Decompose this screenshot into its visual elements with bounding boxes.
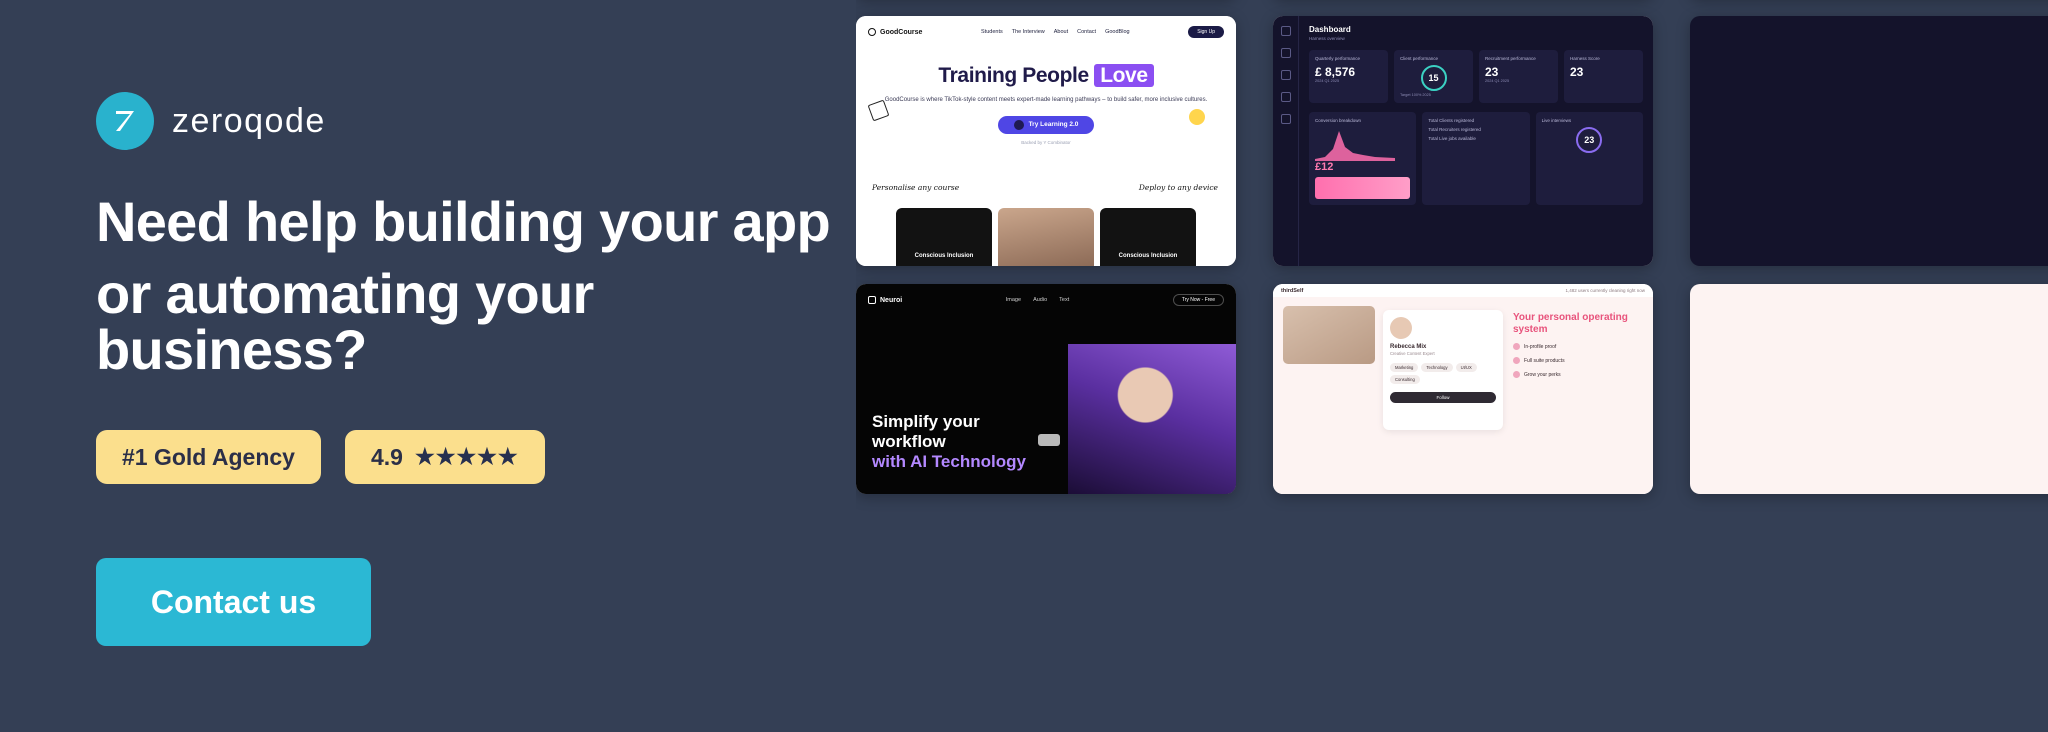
headline-line-1: Need help building your app: [96, 190, 830, 253]
badge-gold-agency: #1 Gold Agency: [96, 430, 321, 484]
gauge-icon: 23: [1576, 127, 1602, 153]
kpi-card: Recruitment performance 23 2024 Q1 2025: [1479, 50, 1558, 103]
headline-line-2: or automating your business?: [96, 266, 856, 378]
goodcourse-annotation-right: Deploy to any device: [1139, 183, 1218, 192]
neuroi-heading: Simplify your workflow with AI Technolog…: [872, 412, 1026, 472]
tag: UI/UX: [1456, 363, 1477, 372]
neuroi-nav-audio[interactable]: Audio: [1033, 297, 1047, 303]
kpi-card: Quarterly performance £ 8,576 2024 Q1 20…: [1309, 50, 1388, 103]
dashboard-kpi-row-1: Quarterly performance £ 8,576 2024 Q1 20…: [1309, 50, 1643, 103]
page-title: Need help building your app or automatin…: [96, 194, 856, 378]
badge-gold-agency-label: #1 Gold Agency: [122, 444, 295, 471]
neuroi-nav-image[interactable]: Image: [1006, 297, 1021, 303]
goodcourse-nav-links: Students The Interview About Contact Goo…: [981, 29, 1130, 35]
dashboard-kpi-row-2: Conversion breakdown £12 Total Clients r…: [1309, 112, 1643, 205]
showcase-column-2: Bekannt aus: ARD WELT Frankfurter Allgem…: [1273, 0, 1653, 512]
portfolio-card-dashboard[interactable]: Dashboard Harness overview Quarterly per…: [1273, 16, 1653, 266]
chart-icon[interactable]: [1281, 92, 1291, 102]
brand-wordmark: zeroqode: [172, 102, 326, 141]
list-item: In-profile proof: [1513, 343, 1643, 350]
bullet-icon: [1513, 371, 1520, 378]
neuroi-ui-panel: [1038, 434, 1060, 446]
portfolio-card-extra-3[interactable]: [1690, 284, 2048, 494]
neuroi-nav-links: Image Audio Text: [1006, 297, 1069, 303]
thirdself-heading: Your personal operating system: [1513, 312, 1643, 336]
profile-name: Rebecca Mix: [1390, 344, 1496, 350]
goodcourse-subtext: GoodCourse is where TikTok-style content…: [868, 96, 1224, 106]
phone-mockup-right: Conscious Inclusion: [1100, 208, 1196, 266]
bullet-icon: [1513, 357, 1520, 364]
nav-interview[interactable]: The Interview: [1012, 29, 1045, 35]
neuroi-heading-3: with AI Technology: [872, 452, 1026, 471]
nav-goodblog[interactable]: GoodBlog: [1105, 29, 1129, 35]
portfolio-card-neuroi[interactable]: Neuroi Image Audio Text Try Now - Free S…: [856, 284, 1236, 494]
grid-icon[interactable]: [1281, 48, 1291, 58]
portfolio-card-thirdself[interactable]: thirdSelf 1,482 users currently cleaning…: [1273, 284, 1653, 494]
dashboard-subtitle: Harness overview: [1309, 36, 1643, 41]
hero-section: zeroqode Need help building your app or …: [0, 0, 856, 732]
thirdself-brand: thirdSelf: [1281, 288, 1303, 294]
goodcourse-heading-highlight: Love: [1094, 64, 1153, 87]
avatar: [1390, 317, 1412, 339]
tag: Technology: [1421, 363, 1452, 372]
goodcourse-heading: Training People Love: [868, 64, 1224, 88]
showcase-column-3: [1690, 0, 2048, 512]
kpi-card: Harness Score 23: [1564, 50, 1643, 103]
goodcourse-phone-mockups: Conscious Inclusion Conscious Inclusion: [896, 208, 1196, 266]
list-item: Grow your perks: [1513, 371, 1643, 378]
badge-rating-value: 4.9: [371, 444, 403, 471]
users-icon[interactable]: [1281, 70, 1291, 80]
showcase-column-1: $0.47 $0.34 $0.28: [856, 0, 1236, 512]
goodcourse-navbar: GoodCourse Students The Interview About …: [868, 26, 1224, 38]
phone-mockup-left: Conscious Inclusion: [896, 208, 992, 266]
neuroi-mark-icon: [868, 296, 876, 304]
thirdself-photo: [1283, 306, 1375, 364]
dashboard-title: Dashboard: [1309, 25, 1643, 34]
badge-group: #1 Gold Agency 4.9 ★★★★★: [96, 430, 856, 484]
badge-rating: 4.9 ★★★★★: [345, 430, 545, 484]
tag: Marketing: [1390, 363, 1418, 372]
gauge-icon: 15: [1421, 65, 1447, 91]
portfolio-card-extra-2[interactable]: [1690, 16, 2048, 266]
neuroi-try-button[interactable]: Try Now - Free: [1173, 294, 1224, 306]
home-icon[interactable]: [1281, 26, 1291, 36]
goodcourse-heading-plain: Training People: [938, 64, 1094, 87]
thirdself-topbar: thirdSelf 1,482 users currently cleaning…: [1273, 284, 1653, 297]
profile-tags: Marketing Technology UI/UX Consulting: [1390, 363, 1496, 384]
kpi-card-interviews: Live interviews 23: [1536, 112, 1643, 205]
zeroqode-z-mark-icon: [96, 92, 154, 150]
nav-students[interactable]: Students: [981, 29, 1003, 35]
goodcourse-annotation-left: Personalise any course: [872, 183, 959, 192]
rating-stars-icon: ★★★★★: [415, 444, 519, 470]
gear-icon[interactable]: [1281, 114, 1291, 124]
goodcourse-brand: GoodCourse: [868, 28, 922, 36]
tag: Consulting: [1390, 375, 1420, 384]
thirdself-copy: Your personal operating system In-profil…: [1513, 312, 1643, 378]
kpi-card-conversion: Conversion breakdown £12: [1309, 112, 1416, 205]
kpi-card-clients: Total Clients registered Total Recruiter…: [1422, 112, 1529, 205]
portfolio-card-goodcourse[interactable]: GoodCourse Students The Interview About …: [856, 16, 1236, 266]
goodcourse-ring-icon: [868, 28, 876, 36]
thirdself-usercount: 1,482 users currently cleaning right now: [1565, 288, 1645, 293]
profile-role: Creative Content Expert: [1390, 351, 1496, 356]
kpi-card: Client performance 15 Target 100% 2025: [1394, 50, 1473, 103]
neuroi-heading-1: Simplify your: [872, 412, 980, 431]
contact-us-button[interactable]: Contact us: [96, 558, 371, 646]
neuroi-heading-2: workflow: [872, 432, 946, 451]
neuroi-hero-portrait: [1068, 344, 1236, 494]
phone-mockup-center: [998, 208, 1094, 266]
neuroi-navbar: Neuroi Image Audio Text Try Now - Free: [868, 294, 1224, 306]
avatar: [1188, 108, 1206, 126]
briefcase-icon: [1014, 120, 1024, 130]
goodcourse-cta-button[interactable]: Try Learning 2.0: [998, 116, 1094, 134]
brand-logo[interactable]: zeroqode: [96, 92, 856, 150]
follow-button[interactable]: Follow: [1390, 392, 1496, 403]
sparkline-chart: [1315, 127, 1410, 161]
bullet-icon: [1513, 343, 1520, 350]
goodcourse-signup-button[interactable]: Sign Up: [1188, 26, 1224, 38]
progress-bar: [1315, 177, 1410, 199]
list-item: Full suite products: [1513, 357, 1643, 364]
thirdself-profile-card: Rebecca Mix Creative Content Expert Mark…: [1383, 310, 1503, 430]
portfolio-showcase: $0.47 $0.34 $0.28: [856, 0, 2048, 732]
dashboard-sidebar: [1273, 16, 1299, 266]
goodcourse-backed-label: Backed by Y Combinator: [868, 140, 1224, 145]
neuroi-brand: Neuroi: [868, 296, 902, 304]
nav-contact[interactable]: Contact: [1077, 29, 1096, 35]
nav-about[interactable]: About: [1054, 29, 1068, 35]
neuroi-nav-text[interactable]: Text: [1059, 297, 1069, 303]
